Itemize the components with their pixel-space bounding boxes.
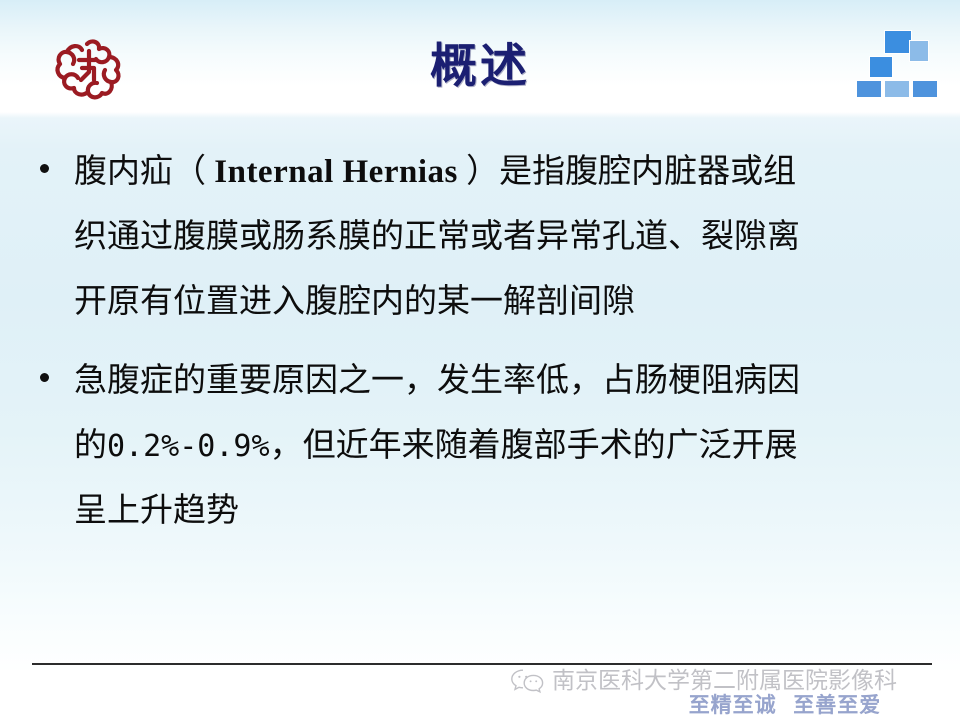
text-run-cjk: ）是指腹腔内脏器或组 [458, 154, 796, 190]
text-run-cjk: 开原有位置进入腹腔内的某一解剖间隙 [74, 284, 635, 320]
bullet-marker-icon [40, 164, 49, 173]
text-run-cjk: 呈上升趋势 [74, 493, 239, 529]
deco-square-2 [909, 40, 929, 62]
text-run-cjk: 腹内疝（ [74, 154, 214, 190]
deco-square-5 [884, 80, 910, 98]
deco-square-1 [884, 30, 912, 54]
bullet-line: 织通过腹膜或肠系膜的正常或者异常孔道、裂隙离 [74, 205, 932, 270]
bullet-item: 急腹症的重要原因之一，发生率低，占肠梗阻病因的0.2%-0.9%，但近年来随着腹… [28, 349, 932, 544]
bullet-line: 腹内疝（ Internal Hernias ）是指腹腔内脏器或组 [74, 140, 932, 205]
bullet-line: 呈上升趋势 [74, 479, 932, 544]
watermark-text: 南京医科大学第二附属医院影像科 [552, 667, 897, 695]
text-run-en: Internal Hernias [214, 154, 458, 190]
wechat-icon [510, 667, 544, 695]
text-run-cjk: 织通过腹膜或肠系膜的正常或者异常孔道、裂隙离 [74, 219, 800, 255]
hospital-motto: 至精至诚 至善至爱 [620, 692, 950, 718]
bullet-marker-icon [40, 373, 49, 382]
text-run-cjk: ，但近年来随着腹部手术的广泛开展 [270, 428, 798, 464]
page-title: 概述 [0, 38, 960, 96]
blue-squares-decoration-icon [856, 30, 942, 96]
slide: 概述 腹内疝（ Internal Hernias ）是指腹腔内脏器或组织通过腹膜… [0, 0, 960, 720]
slide-body: 腹内疝（ Internal Hernias ）是指腹腔内脏器或组织通过腹膜或肠系… [28, 140, 932, 558]
bullet-text: 腹内疝（ Internal Hernias ）是指腹腔内脏器或组织通过腹膜或肠系… [74, 140, 932, 335]
deco-square-4 [856, 80, 882, 98]
bullet-line: 的0.2%-0.9%，但近年来随着腹部手术的广泛开展 [74, 414, 932, 479]
bullet-line: 开原有位置进入腹腔内的某一解剖间隙 [74, 270, 932, 335]
deco-square-3 [869, 56, 893, 78]
slide-header: 概述 [0, 0, 960, 118]
text-run-cjk: 的 [74, 428, 107, 464]
text-run-cjk: 急腹症的重要原因之一，发生率低，占肠梗阻病因 [74, 363, 800, 399]
deco-square-6 [912, 80, 938, 98]
bullet-text: 急腹症的重要原因之一，发生率低，占肠梗阻病因的0.2%-0.9%，但近年来随着腹… [74, 349, 932, 544]
text-run-num: 0.2%-0.9% [107, 429, 270, 464]
bullet-item: 腹内疝（ Internal Hernias ）是指腹腔内脏器或组织通过腹膜或肠系… [28, 140, 932, 335]
bullet-line: 急腹症的重要原因之一，发生率低，占肠梗阻病因 [74, 349, 932, 414]
